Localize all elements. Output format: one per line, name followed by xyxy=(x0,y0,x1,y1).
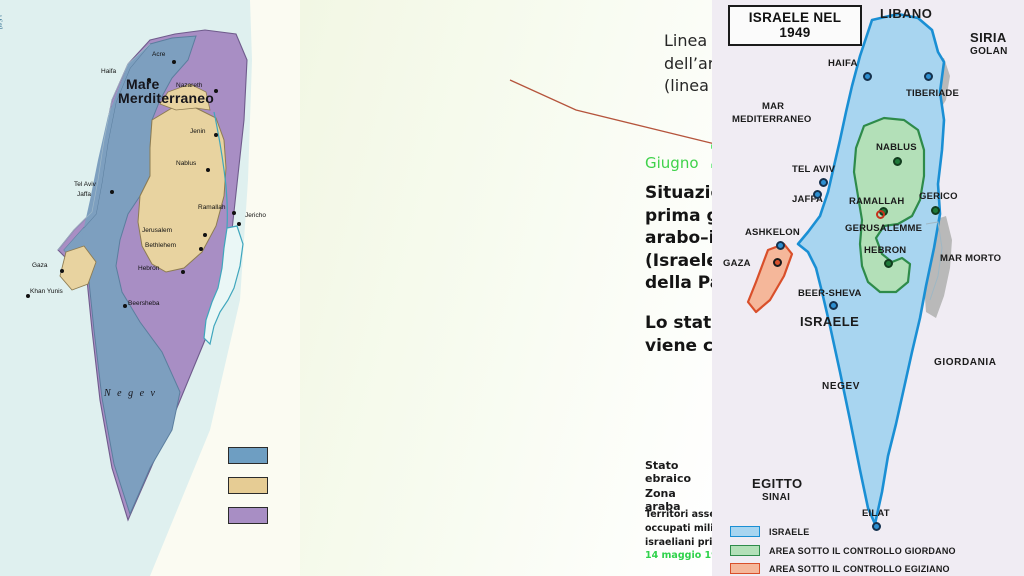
left-mediterranean-label-2: Merditerraneo xyxy=(118,90,214,106)
right-city-beer-sheva: BEER-SHEVA xyxy=(798,288,862,299)
left-city-dot-acre xyxy=(172,60,176,64)
right-city-dot-haifa xyxy=(863,72,872,81)
left-negev-label: N e g e v xyxy=(104,388,157,399)
left-city-nazareth: Nazareth xyxy=(176,82,202,89)
right-label-mediterranean-2: MEDITERRANEO xyxy=(732,114,811,125)
right-label-jordan: GIORDANIA xyxy=(934,357,997,368)
left-city-bethlehem: Bethlehem xyxy=(145,242,176,249)
left-city-dot-nazareth xyxy=(214,89,218,93)
right-city-dot-gerico xyxy=(931,206,940,215)
right-city-dot-nablus xyxy=(893,157,902,166)
slide-root: 1949 Mare Merditerran xyxy=(0,0,1024,576)
left-city-jenin: Jenin xyxy=(190,128,206,135)
right-city-tiberiade: TIBERIADE xyxy=(906,88,959,99)
right-label-golan: GOLAN xyxy=(970,46,1008,57)
left-city-hebron: Hebron xyxy=(138,265,159,272)
left-legend-swatch-jewish-state xyxy=(228,447,268,464)
left-city-dot-nablus xyxy=(206,168,210,172)
right-city-eilat: EILAT xyxy=(862,508,890,519)
right-city-dot-gaza xyxy=(773,258,782,267)
left-city-khan-yunis: Khan Yunis xyxy=(30,288,63,295)
right-city-dot-eilat xyxy=(872,522,881,531)
left-city-dot-hebron xyxy=(181,270,185,274)
right-legend-row-israel: ISRAELE xyxy=(730,526,809,537)
left-legend-swatch-arab-zone xyxy=(228,477,268,494)
left-city-acre: Acre xyxy=(152,51,165,58)
left-city-dot-tel-aviv xyxy=(110,190,114,194)
right-city-dot-ashkelon xyxy=(776,241,785,250)
right-label-negev: NEGEV xyxy=(822,381,860,392)
right-label-mediterranean-1: MAR xyxy=(762,101,784,112)
left-city-dot-ramallah xyxy=(232,211,236,215)
right-city-dot-hebron xyxy=(884,259,893,268)
right-label-israel: ISRAELE xyxy=(800,314,859,329)
left-city-tel-aviv: Tel Aviv xyxy=(74,181,96,188)
right-city-ramallah: RAMALLAH xyxy=(849,196,904,207)
right-city-dot-gerusalemme xyxy=(876,210,885,219)
left-city-beersheba: Beersheba xyxy=(128,300,159,307)
right-city-gerico: GERICO xyxy=(919,191,958,202)
right-map-title-line-1: ISRAELE NEL xyxy=(732,10,858,25)
right-legend-label-israel: ISRAELE xyxy=(769,527,809,537)
right-label-lebanon: LIBANO xyxy=(880,6,932,21)
right-city-dot-tel-aviv xyxy=(819,178,828,187)
left-city-gaza: Gaza xyxy=(32,262,48,269)
center-text-panel: Linea dell’armistizio (linea verde) Giug… xyxy=(300,0,712,576)
year-month: Giugno xyxy=(645,154,699,172)
right-legend-label-jordanian: AREA SOTTO IL CONTROLLO GIORDANO xyxy=(769,546,956,556)
legend-label-jewish-state: Stato ebraico xyxy=(645,459,712,485)
left-city-dot-gaza xyxy=(60,269,64,273)
right-map-title-line-2: 1949 xyxy=(732,25,858,40)
left-city-dot-bethlehem xyxy=(199,247,203,251)
right-legend-row-egyptian: AREA SOTTO IL CONTROLLO EGIZIANO xyxy=(730,563,950,574)
left-city-jerusalem: Jerusalem xyxy=(142,227,172,234)
right-map-panel: ISRAELE NEL 1949 LIBANO SIRIA GOLAN ISRA… xyxy=(712,0,1024,576)
left-city-jericho: Jericho xyxy=(245,212,266,219)
left-city-dot-jenin xyxy=(214,133,218,137)
right-city-nablus: NABLUS xyxy=(876,142,917,153)
right-legend-swatch-jordanian xyxy=(730,545,760,556)
right-legend-label-egyptian: AREA SOTTO IL CONTROLLO EGIZIANO xyxy=(769,564,950,574)
right-city-tel-aviv: TEL AVIV xyxy=(792,164,835,175)
right-city-dot-jaffa xyxy=(813,190,822,199)
left-city-dot-jerusalem xyxy=(203,233,207,237)
right-city-dot-beer-sheva xyxy=(829,301,838,310)
right-label-syria: SIRIA xyxy=(970,30,1007,45)
left-city-dot-beersheba xyxy=(123,304,127,308)
left-city-jaffa: Jaffa xyxy=(77,191,91,198)
right-legend-swatch-egyptian xyxy=(730,563,760,574)
right-label-dead-sea: MAR MORTO xyxy=(940,253,1001,264)
right-city-hebron: HEBRON xyxy=(864,245,906,256)
right-label-sinai: SINAI xyxy=(762,492,790,503)
left-map-panel: 1949 Mare Merditerran xyxy=(0,0,300,576)
right-city-gaza: GAZA xyxy=(723,258,751,269)
right-map-title-box: ISRAELE NEL 1949 xyxy=(728,5,862,46)
right-city-gerusalemme: GERUSALEMME xyxy=(845,223,922,234)
right-label-egypt: EGITTO xyxy=(752,476,803,491)
left-legend-swatch-occupied xyxy=(228,507,268,524)
left-city-dot-haifa xyxy=(147,78,151,82)
left-city-dot-jericho xyxy=(237,222,241,226)
left-city-dot-khan-yunis xyxy=(26,294,30,298)
right-legend-swatch-israel xyxy=(730,526,760,537)
right-city-ashkelon: ASHKELON xyxy=(745,227,800,238)
right-legend-row-jordanian: AREA SOTTO IL CONTROLLO GIORDANO xyxy=(730,545,956,556)
left-city-nablus: Nablus xyxy=(176,160,196,167)
left-city-ramallah: Ramallah xyxy=(198,204,225,211)
left-city-haifa: Haifa xyxy=(101,68,116,75)
right-city-haifa: HAIFA xyxy=(828,58,858,69)
right-city-dot-tiberiade xyxy=(924,72,933,81)
